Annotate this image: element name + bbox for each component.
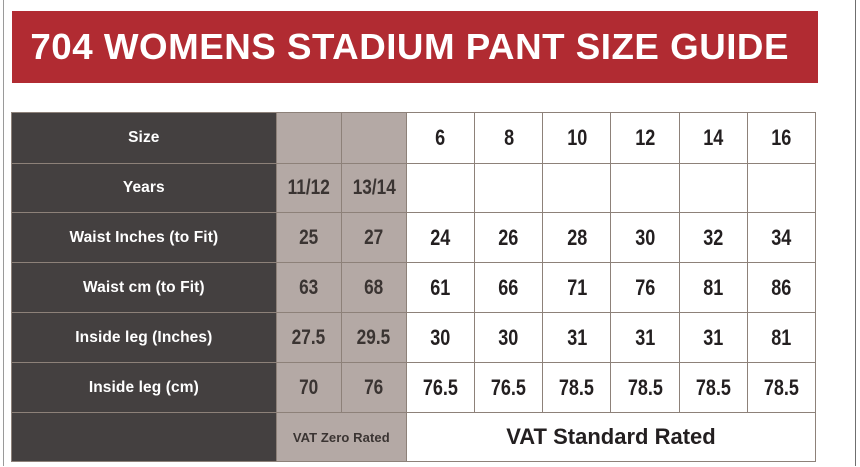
cell-size-6: 6 xyxy=(406,113,474,164)
cell-value: 78.5 xyxy=(559,375,594,401)
cell-years-12 xyxy=(611,164,679,213)
row-label-years: Years xyxy=(12,164,277,213)
cell-value: 78.5 xyxy=(627,375,662,401)
cell-waist-inches-10: 28 xyxy=(543,213,611,263)
cell-waist-inches-6: 24 xyxy=(406,213,474,263)
cell-years-10 xyxy=(543,164,611,213)
cell-inside-leg-cm-8: 76.5 xyxy=(475,363,543,413)
cell-value: 30 xyxy=(431,325,451,351)
cell-inside-leg-cm-14: 78.5 xyxy=(679,363,747,413)
cell-value: 76.5 xyxy=(423,375,458,401)
cell-inside-leg-inches-taupe-2: 29.5 xyxy=(341,313,406,363)
row-label-inside-leg-cm: Inside leg (cm) xyxy=(12,363,277,413)
cell-size-10: 10 xyxy=(543,113,611,164)
cell-years-6 xyxy=(406,164,474,213)
cell-value: 78.5 xyxy=(696,375,731,401)
vat-standard-rated-cell: VAT Standard Rated xyxy=(406,413,815,462)
cell-size-14: 14 xyxy=(679,113,747,164)
cell-value: 12 xyxy=(635,125,655,151)
cell-value: 31 xyxy=(635,325,655,351)
cell-size-12: 12 xyxy=(611,113,679,164)
cell-value: 34 xyxy=(771,225,791,251)
cell-value: 8 xyxy=(504,125,514,151)
cell-value: 66 xyxy=(499,275,519,301)
cell-size-taupe-2 xyxy=(341,113,406,164)
cell-value: 81 xyxy=(703,275,723,301)
cell-value: 11/12 xyxy=(288,176,330,200)
cell-value: 76 xyxy=(364,376,383,400)
cell-waist-cm-taupe-2: 68 xyxy=(341,263,406,313)
cell-inside-leg-inches-taupe-1: 27.5 xyxy=(276,313,341,363)
cell-value: 27 xyxy=(364,226,383,250)
cell-value: 28 xyxy=(567,225,587,251)
cell-size-8: 8 xyxy=(475,113,543,164)
cell-waist-inches-taupe-2: 27 xyxy=(341,213,406,263)
cell-value: 13/14 xyxy=(352,176,395,200)
table-row-years: Years 11/12 13/14 xyxy=(12,164,816,213)
cell-value: 31 xyxy=(567,325,587,351)
cell-waist-inches-12: 30 xyxy=(611,213,679,263)
cell-size-16: 16 xyxy=(747,113,815,164)
cell-years-14 xyxy=(679,164,747,213)
cell-waist-cm-12: 76 xyxy=(611,263,679,313)
cell-years-taupe-1: 11/12 xyxy=(276,164,341,213)
cell-inside-leg-inches-8: 30 xyxy=(475,313,543,363)
cell-value: 68 xyxy=(364,276,383,300)
cell-value: 10 xyxy=(567,125,587,151)
table-row-inside-leg-inches: Inside leg (Inches) 27.5 29.5 30 30 31 3… xyxy=(12,313,816,363)
row-label-size: Size xyxy=(12,113,277,164)
cell-inside-leg-cm-12: 78.5 xyxy=(611,363,679,413)
cell-waist-cm-16: 86 xyxy=(747,263,815,313)
cell-value: 14 xyxy=(703,125,723,151)
cell-value: 26 xyxy=(499,225,519,251)
cell-value: 30 xyxy=(635,225,655,251)
cell-value: 25 xyxy=(299,226,318,250)
size-guide-table: Size 6 8 10 12 14 16 Years 11/12 13/14 xyxy=(11,112,816,462)
cell-inside-leg-cm-6: 76.5 xyxy=(406,363,474,413)
cell-value: 61 xyxy=(431,275,451,301)
table-row-size: Size 6 8 10 12 14 16 xyxy=(12,113,816,164)
cell-inside-leg-cm-10: 78.5 xyxy=(543,363,611,413)
table-row-inside-leg-cm: Inside leg (cm) 70 76 76.5 76.5 78.5 78.… xyxy=(12,363,816,413)
cell-value: 27.5 xyxy=(292,326,326,350)
vat-zero-rated-cell: VAT Zero Rated xyxy=(276,413,406,462)
cell-value: 32 xyxy=(703,225,723,251)
row-label-waist-cm: Waist cm (to Fit) xyxy=(12,263,277,313)
cell-value: 63 xyxy=(299,276,318,300)
cell-waist-inches-taupe-1: 25 xyxy=(276,213,341,263)
cell-years-8 xyxy=(475,164,543,213)
cell-value: 6 xyxy=(436,125,446,151)
cell-inside-leg-cm-taupe-2: 76 xyxy=(341,363,406,413)
cell-waist-inches-14: 32 xyxy=(679,213,747,263)
cell-value: 76 xyxy=(635,275,655,301)
cell-value: 81 xyxy=(771,325,791,351)
cell-value: 24 xyxy=(431,225,451,251)
cell-inside-leg-inches-10: 31 xyxy=(543,313,611,363)
cell-years-16 xyxy=(747,164,815,213)
size-guide-page: 704 WOMENS STADIUM PANT SIZE GUIDE Size … xyxy=(0,0,860,467)
cell-inside-leg-cm-taupe-1: 70 xyxy=(276,363,341,413)
cell-value: 31 xyxy=(703,325,723,351)
table-row-waist-inches: Waist Inches (to Fit) 25 27 24 26 28 30 … xyxy=(12,213,816,263)
cell-inside-leg-inches-14: 31 xyxy=(679,313,747,363)
table-row-vat: VAT Zero Rated VAT Standard Rated xyxy=(12,413,816,462)
cell-value: 30 xyxy=(499,325,519,351)
row-label-waist-inches: Waist Inches (to Fit) xyxy=(12,213,277,263)
cell-years-taupe-2: 13/14 xyxy=(341,164,406,213)
cell-waist-cm-taupe-1: 63 xyxy=(276,263,341,313)
cell-value: 29.5 xyxy=(357,326,391,350)
page-title: 704 WOMENS STADIUM PANT SIZE GUIDE xyxy=(12,26,789,68)
title-banner: 704 WOMENS STADIUM PANT SIZE GUIDE xyxy=(12,11,818,83)
cell-value: 71 xyxy=(567,275,587,301)
cell-waist-inches-16: 34 xyxy=(747,213,815,263)
row-label-vat xyxy=(12,413,277,462)
table-row-waist-cm: Waist cm (to Fit) 63 68 61 66 71 76 81 8… xyxy=(12,263,816,313)
cell-value: 76.5 xyxy=(491,375,526,401)
cell-value: 78.5 xyxy=(764,375,799,401)
cell-inside-leg-inches-6: 30 xyxy=(406,313,474,363)
cell-value: 70 xyxy=(299,376,318,400)
cell-inside-leg-inches-12: 31 xyxy=(611,313,679,363)
cell-size-taupe-1 xyxy=(276,113,341,164)
row-label-inside-leg-inches: Inside leg (Inches) xyxy=(12,313,277,363)
cell-inside-leg-cm-16: 78.5 xyxy=(747,363,815,413)
cell-inside-leg-inches-16: 81 xyxy=(747,313,815,363)
cell-waist-cm-6: 61 xyxy=(406,263,474,313)
cell-waist-cm-8: 66 xyxy=(475,263,543,313)
cell-waist-inches-8: 26 xyxy=(475,213,543,263)
cell-value: 16 xyxy=(771,125,791,151)
cell-waist-cm-10: 71 xyxy=(543,263,611,313)
cell-waist-cm-14: 81 xyxy=(679,263,747,313)
cell-value: 86 xyxy=(771,275,791,301)
